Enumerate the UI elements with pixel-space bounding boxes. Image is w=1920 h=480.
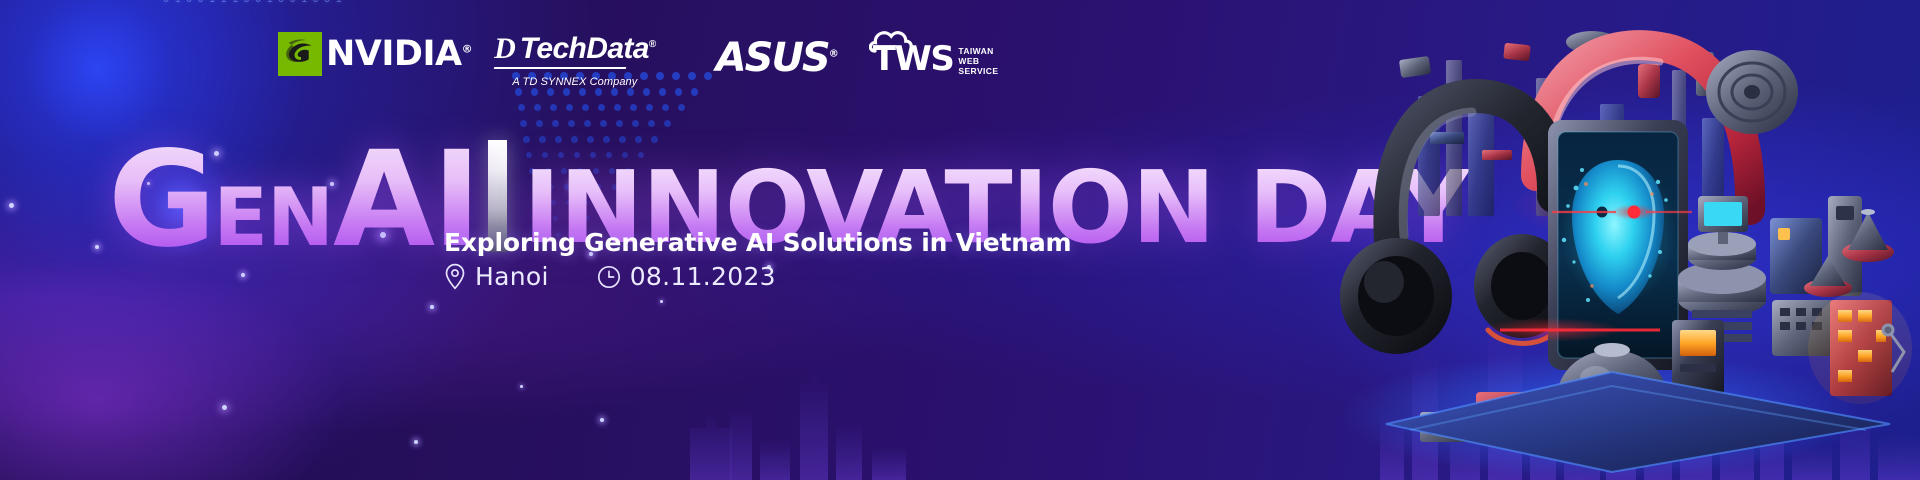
partner-logo-row: NVIDIA® D TechData® A TD SYNNEX Company … <box>278 32 998 94</box>
halftone-dot <box>632 120 639 127</box>
halftone-dot <box>630 104 637 111</box>
asus-trademark: ® <box>829 49 837 60</box>
halftone-dot <box>648 120 655 127</box>
genai-letters-en: EN <box>213 183 333 253</box>
nvidia-eye-logo-icon <box>278 32 322 76</box>
event-location: Hanoi <box>444 262 549 291</box>
halftone-dot <box>616 120 623 127</box>
techdata-trademark: ® <box>649 39 656 50</box>
halftone-dot <box>600 120 607 127</box>
techdata-underline <box>494 67 627 69</box>
halftone-dot <box>566 104 573 111</box>
halftone-dot <box>534 104 541 111</box>
genai-letter-g: G <box>108 142 213 258</box>
event-meta-row: Hanoi 08.11.2023 <box>444 262 776 291</box>
halftone-dot <box>646 104 653 111</box>
tws-sublabel: TAIWAN WEB SERVICE <box>958 42 998 76</box>
partner-logo-asus[interactable]: ASUS® <box>716 32 837 78</box>
genai-brand-mark: G EN AI <box>108 142 478 258</box>
partner-logo-nvidia[interactable]: NVIDIA® <box>278 32 472 76</box>
clock-icon <box>597 265 621 289</box>
laser-glow <box>1482 318 1622 342</box>
halftone-dot <box>550 104 557 111</box>
spiral-disc-object <box>1706 50 1798 134</box>
halftone-dot <box>678 104 685 111</box>
halftone-dot <box>568 120 575 127</box>
nvidia-wordmark: NVIDIA® <box>326 37 472 72</box>
halftone-dot <box>664 120 671 127</box>
partner-logo-tws[interactable]: TWS TAIWAN WEB SERVICE <box>873 32 999 76</box>
tws-sub-line: SERVICE <box>958 66 998 76</box>
event-date-label: 08.11.2023 <box>630 262 776 291</box>
tws-sub-line: TAIWAN <box>958 46 998 56</box>
halftone-dot <box>552 120 559 127</box>
glowing-orange-blocks <box>1808 292 1912 404</box>
tws-sub-line: WEB <box>958 56 998 66</box>
event-banner: 0 0 1 0 0 1 0 1 1 0 1 0 0 1 0 0 1 0 1 0 … <box>0 0 1920 480</box>
ai-tech-isometric-3d-illustration <box>1300 0 1920 480</box>
cloud-icon <box>869 24 927 54</box>
event-location-label: Hanoi <box>475 262 549 291</box>
nvidia-trademark: ® <box>462 42 473 55</box>
techdata-monogram-icon: D <box>494 34 516 64</box>
event-subtitle: Exploring Generative AI Solutions in Vie… <box>444 228 1071 257</box>
techdata-lockup: D TechData® <box>494 34 656 64</box>
binary-column: 1 0 0 1 0 0 1 0 0 1 1 1 0 0 1 0 <box>160 0 344 5</box>
halftone-dot <box>582 104 589 111</box>
partner-logo-techdata[interactable]: D TechData® A TD SYNNEX Company <box>494 32 656 88</box>
halftone-dot <box>584 120 591 127</box>
halftone-dot <box>598 104 605 111</box>
location-pin-icon <box>444 263 466 290</box>
halftone-dot <box>662 104 669 111</box>
event-date: 08.11.2023 <box>597 262 776 291</box>
asus-wordmark: ASUS® <box>716 38 837 78</box>
halftone-dot <box>518 104 525 111</box>
techdata-tagline: A TD SYNNEX Company <box>512 76 637 88</box>
halftone-dot <box>520 120 527 127</box>
nvidia-mark-svg <box>282 39 318 69</box>
halftone-dot <box>536 120 543 127</box>
techdata-wordmark: TechData® <box>520 34 656 64</box>
halftone-dot <box>614 104 621 111</box>
